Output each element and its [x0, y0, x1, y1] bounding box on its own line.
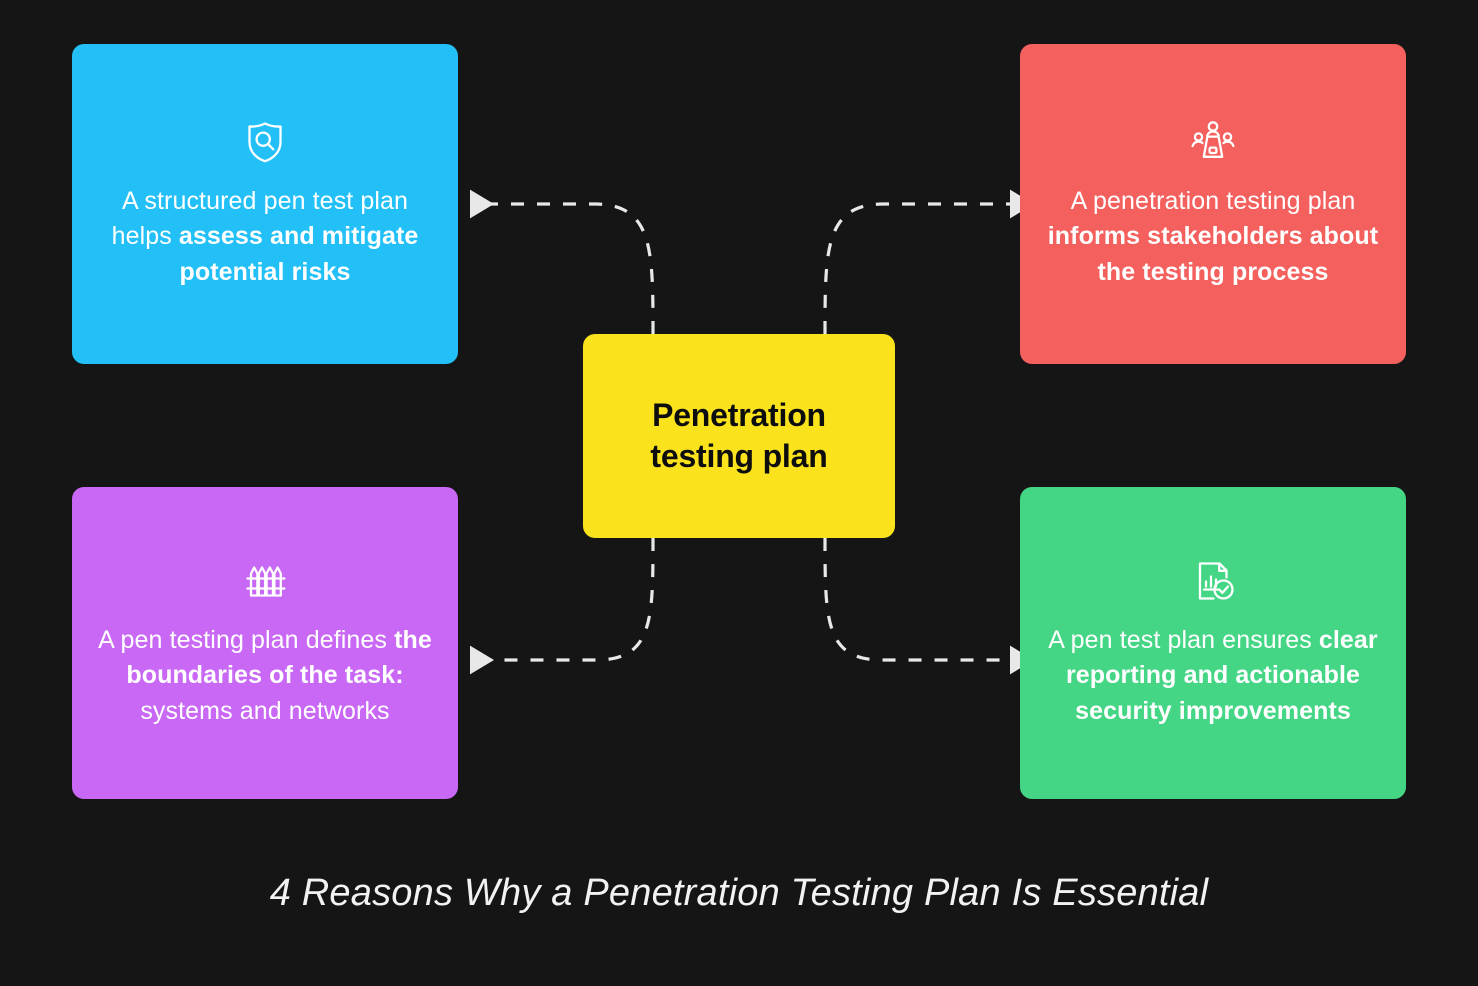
connector-to-bottom-left	[470, 538, 653, 660]
connector-to-top-right	[825, 204, 1010, 334]
card-bottom-left-text: A pen testing plan defines the boundarie…	[90, 623, 440, 730]
card-top-left[interactable]: A structured pen test plan helps assess …	[72, 44, 458, 364]
stakeholders-group-icon	[1189, 118, 1237, 166]
card-bottom-right-text: A pen test plan ensures clear reporting …	[1038, 623, 1388, 730]
fence-icon	[241, 557, 289, 605]
card-top-left-text: A structured pen test plan helps assess …	[90, 184, 440, 291]
card-bottom-right[interactable]: A pen test plan ensures clear reporting …	[1020, 487, 1406, 799]
connector-to-top-left	[470, 204, 653, 334]
diagram-caption: 4 Reasons Why a Penetration Testing Plan…	[0, 872, 1478, 915]
diagram-canvas: A structured pen test plan helps assess …	[0, 0, 1478, 986]
report-check-icon	[1189, 557, 1237, 605]
center-node-penetration-testing-plan[interactable]: Penetrationtesting plan	[583, 334, 895, 538]
card-bottom-left[interactable]: A pen testing plan defines the boundarie…	[72, 487, 458, 799]
card-top-right[interactable]: A penetration testing plan informs stake…	[1020, 44, 1406, 364]
center-node-label: Penetrationtesting plan	[650, 395, 827, 477]
shield-search-icon	[241, 118, 289, 166]
card-top-right-text: A penetration testing plan informs stake…	[1038, 184, 1388, 291]
connector-to-bottom-right	[825, 538, 1010, 660]
